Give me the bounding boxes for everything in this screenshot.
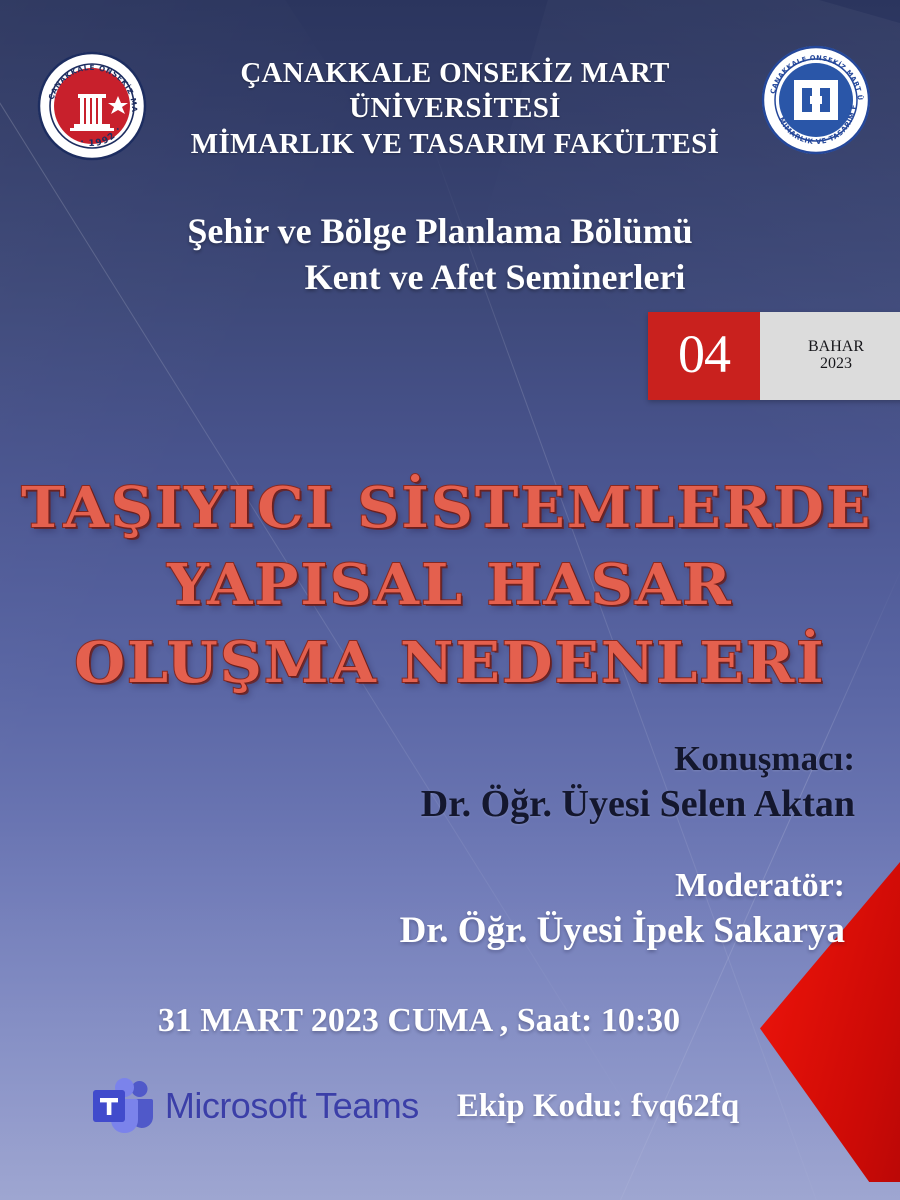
badge-season-name: BAHAR xyxy=(808,339,864,356)
main-title-line-3: OLUŞMA NEDENLERİ xyxy=(0,625,900,702)
series-line-2: Kent ve Afet Seminerleri xyxy=(0,254,860,300)
team-code: Ekip Kodu: fvq62fq xyxy=(457,1088,739,1125)
speaker-block: Konuşmacı: Dr. Öğr. Üyesi Selen Aktan xyxy=(0,738,855,829)
main-title-line-1: TAŞIYICI SİSTEMLERDE xyxy=(0,470,900,547)
faculty-name: MİMARLIK VE TASARIM FAKÜLTESİ xyxy=(160,127,750,162)
moderator-role-label: Moderatör: xyxy=(0,866,845,907)
university-seal-logo: ÇANAKKALE ONSEKİZ MART ÜNİVERSİTESİ · 19… xyxy=(36,50,148,162)
microsoft-teams-icon xyxy=(91,1078,153,1134)
moderator-block: Moderatör: Dr. Öğr. Üyesi İpek Sakarya xyxy=(0,866,845,955)
badge-season-block: BAHAR 2023 xyxy=(760,312,900,400)
faculty-seal-logo: ÇANAKKALE ONSEKİZ MART ÜNİVERSİTESİ 2012… xyxy=(760,44,872,156)
speaker-name: Dr. Öğr. Üyesi Selen Aktan xyxy=(0,780,855,829)
seminar-number-badge: 04 BAHAR 2023 xyxy=(648,312,900,400)
badge-season-year: 2023 xyxy=(820,356,852,373)
seminar-poster: ÇANAKKALE ONSEKİZ MART ÜNİVERSİTESİ · 19… xyxy=(0,0,900,1200)
poster-header: ÇANAKKALE ONSEKİZ MART ÜNİVERSİTESİ · 19… xyxy=(0,44,900,154)
speaker-role-label: Konuşmacı: xyxy=(0,738,855,780)
background-bottom-sheen xyxy=(0,800,900,1200)
event-datetime: 31 MART 2023 CUMA , Saat: 10:30 xyxy=(0,1002,900,1040)
microsoft-teams-label: Microsoft Teams xyxy=(165,1085,419,1127)
badge-number: 04 xyxy=(648,312,760,400)
moderator-name: Dr. Öğr. Üyesi İpek Sakarya xyxy=(0,907,845,955)
university-name: ÇANAKKALE ONSEKİZ MART ÜNİVERSİTESİ xyxy=(160,56,750,127)
header-title-group: ÇANAKKALE ONSEKİZ MART ÜNİVERSİTESİ MİMA… xyxy=(160,56,750,162)
main-title-line-2: YAPISAL HASAR xyxy=(0,547,900,624)
seminar-series-title: Şehir ve Bölge Planlama Bölümü Kent ve A… xyxy=(0,208,860,300)
poster-main-title: TAŞIYICI SİSTEMLERDE YAPISAL HASAR OLUŞM… xyxy=(0,470,900,702)
series-line-1: Şehir ve Bölge Planlama Bölümü xyxy=(0,208,860,254)
poster-footer: Microsoft Teams Ekip Kodu: fvq62fq xyxy=(0,1078,900,1134)
